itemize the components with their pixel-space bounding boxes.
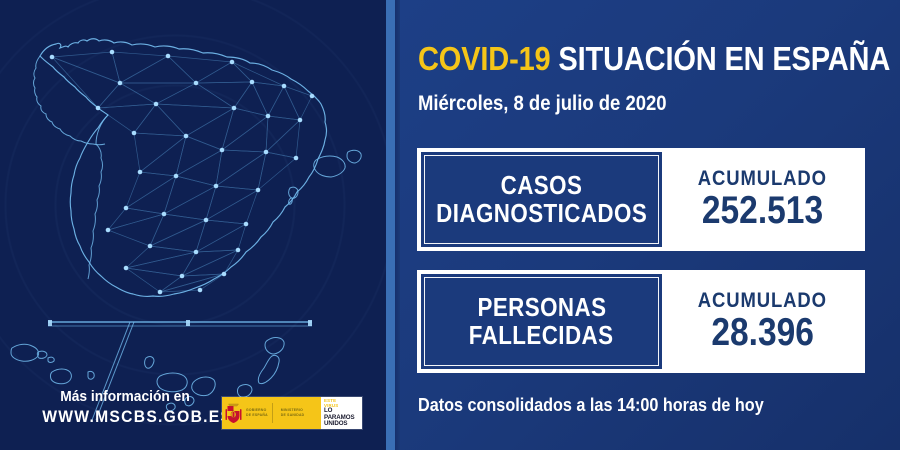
network-nodes	[50, 50, 315, 295]
stat-label-cases: CASOS DIAGNOSTICADOS	[420, 151, 663, 248]
stat-metric-deaths: ACUMULADO	[698, 290, 827, 311]
mainland-outline	[40, 39, 327, 297]
portugal-border	[88, 144, 103, 279]
infographic-root: Más información en WWW.MSCBS.GOB.ES	[0, 0, 900, 450]
stat-label-deaths: PERSONAS FALLECIDAS	[420, 273, 663, 370]
map-panel: Más información en WWW.MSCBS.GOB.ES	[0, 0, 386, 450]
government-logo: GOBIERNO DE ESPAÑA MINISTERIO DE SANIDAD	[222, 397, 321, 429]
coastline-detail	[34, 56, 109, 145]
stat-metric-cases: ACUMULADO	[698, 168, 827, 189]
more-info-label: Más información en	[42, 388, 208, 406]
balearic-islands	[289, 150, 362, 204]
stat-value-deaths: ACUMULADO 28.396	[663, 273, 862, 370]
title-rest: SITUACIÓN EN ESPAÑA	[558, 40, 890, 77]
campaign-logo: ESTE VIRUS LO PARAMOS UNIDOS	[321, 397, 362, 429]
spain-map-svg	[0, 0, 386, 450]
stat-card-cases: CASOS DIAGNOSTICADOS ACUMULADO 252.513	[417, 148, 865, 251]
report-date: Miércoles, 8 de julio de 2020	[418, 92, 832, 116]
gov-line-2: DE ESPAÑA	[246, 413, 268, 418]
consolidated-note: Datos consolidados a las 14:00 horas de …	[418, 395, 841, 416]
panel-divider-stripe	[386, 0, 395, 450]
ministry-label: MINISTERIO DE SANIDAD	[281, 408, 305, 418]
stat-label-deaths-line2: FALLECIDAS	[469, 322, 614, 350]
stat-card-deaths: PERSONAS FALLECIDAS ACUMULADO 28.396	[417, 270, 865, 373]
page-title: COVID-19 SITUACIÓN EN ESPAÑA	[418, 42, 832, 75]
stat-label-cases-line1: CASOS	[501, 172, 583, 200]
logo-separator	[272, 403, 273, 423]
stat-number-cases: 252.513	[702, 191, 823, 232]
more-info-block: Más información en WWW.MSCBS.GOB.ES	[35, 388, 215, 428]
government-label: GOBIERNO DE ESPAÑA	[246, 408, 268, 418]
stat-label-cases-line2: DIAGNOSTICADOS	[436, 200, 647, 228]
logo-bar: GOBIERNO DE ESPAÑA MINISTERIO DE SANIDAD…	[222, 397, 362, 429]
stat-value-cases: ACUMULADO 252.513	[663, 151, 862, 248]
ministry-line-2: DE SANIDAD	[281, 413, 305, 418]
stat-number-deaths: 28.396	[711, 313, 814, 354]
spain-coat-of-arms-icon	[225, 402, 242, 424]
content-panel: COVID-19 SITUACIÓN EN ESPAÑA Miércoles, …	[400, 0, 900, 450]
stat-label-deaths-line1: PERSONAS	[477, 294, 606, 322]
title-covid: COVID-19	[418, 40, 551, 77]
campaign-line-5: UNIDOS	[324, 421, 362, 428]
website-url[interactable]: WWW.MSCBS.GOB.ES	[42, 406, 208, 428]
